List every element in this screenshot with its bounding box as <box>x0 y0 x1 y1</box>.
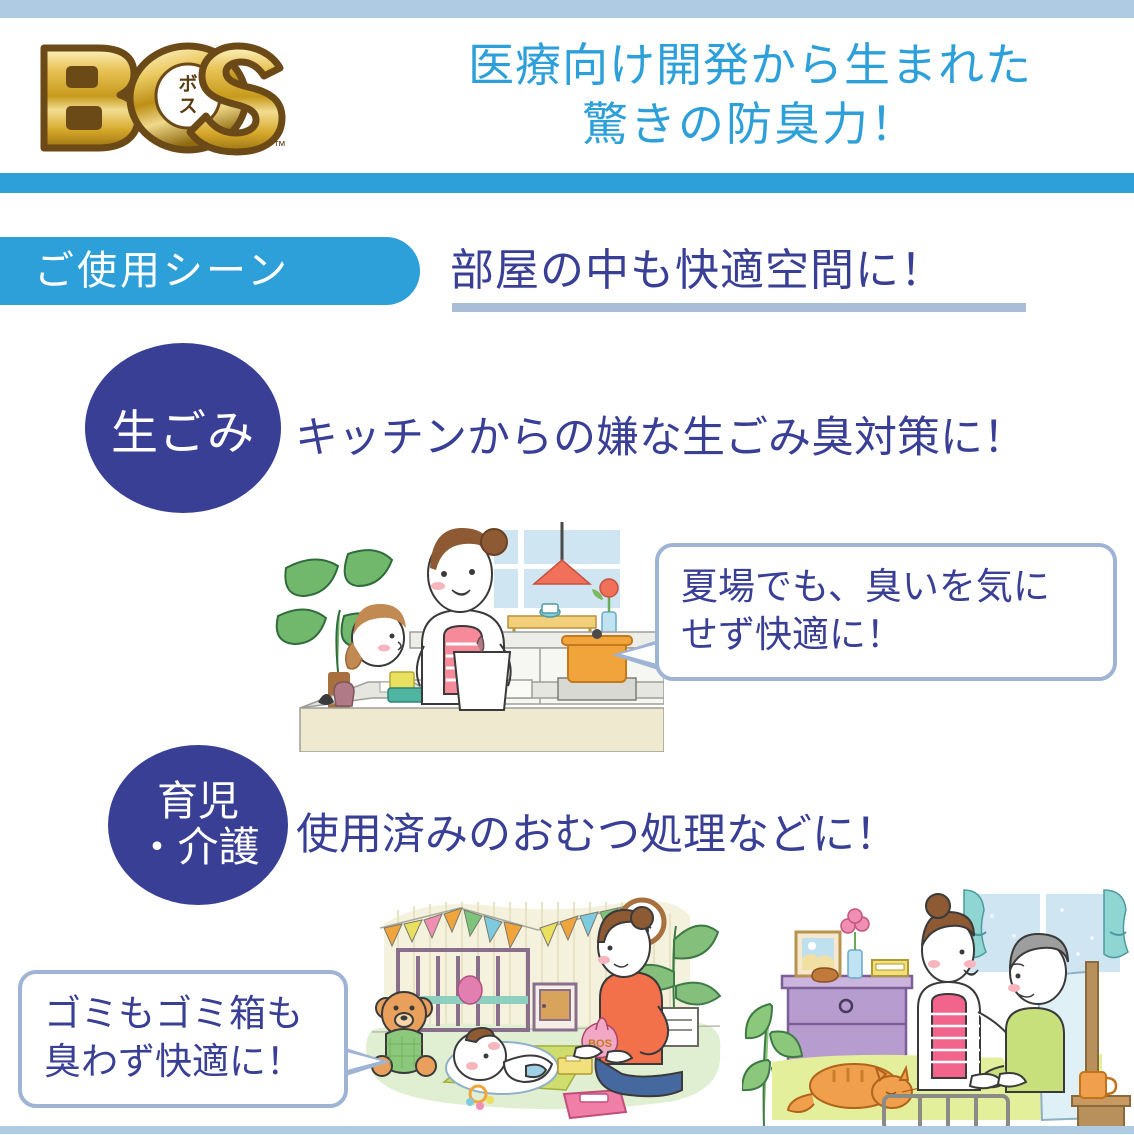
svg-text:ボ: ボ <box>178 73 197 95</box>
nursery-bubble-line-1: ゴミもゴミ箱も <box>44 990 324 1038</box>
caption-ikuji-kaigo: 使用済みのおむつ処理などに！ <box>296 800 898 862</box>
badge-ikuji-label-1: 育児 <box>157 779 239 825</box>
headline-line-2: 驚きの防臭力！ <box>400 95 1100 154</box>
svg-text:ス: ス <box>178 95 197 117</box>
nursery-scene-illustration: BOS <box>352 880 734 1130</box>
header-divider-bar <box>0 173 1134 193</box>
kitchen-scene-illustration <box>272 512 664 752</box>
page-title: 医療向け開発から生まれた 驚きの防臭力！ <box>400 36 1100 154</box>
badge-namagomi-label: 生ごみ <box>111 394 255 463</box>
bottom-accent-rail <box>0 1126 1134 1134</box>
caption-namagomi: キッチンからの嫌な生ごみ臭対策に！ <box>295 403 1026 465</box>
section-heading: 部屋の中も快適空間に！ <box>450 240 945 302</box>
bos-logo-icon: ボ ス ™ <box>28 32 296 160</box>
caregiving-scene-illustration <box>742 880 1132 1130</box>
top-accent-rail <box>0 0 1134 18</box>
promo-page: ボ ス ™ 医療向け開発から生まれた 驚きの防臭力！ ご使用シーン 部屋の中も快… <box>0 0 1134 1134</box>
usage-scene-tab: ご使用シーン <box>0 237 420 305</box>
bos-logo: ボ ス ™ <box>28 32 296 160</box>
speech-bubble-kitchen: 夏場でも、臭いを気に せず快適に！ <box>655 543 1117 681</box>
badge-ikuji-label-2: ・介護 <box>137 825 260 871</box>
badge-ikuji-kaigo: 育児 ・介護 <box>108 745 288 905</box>
speech-bubble-nursery: ゴミもゴミ箱も 臭わず快適に！ <box>18 970 348 1108</box>
kitchen-bubble-line-2: せず快適に！ <box>681 611 1093 659</box>
header: ボ ス ™ 医療向け開発から生まれた 驚きの防臭力！ <box>0 18 1134 173</box>
caregiving-illustration-icon <box>742 880 1132 1130</box>
headline-line-1: 医療向け開発から生まれた <box>400 36 1100 95</box>
nursery-bubble-tail-fill <box>343 1051 381 1071</box>
badge-namagomi: 生ごみ <box>85 343 281 513</box>
nursery-bubble-line-2: 臭わず快適に！ <box>44 1038 324 1086</box>
kitchen-bubble-line-1: 夏場でも、臭いを気に <box>681 563 1093 611</box>
nursery-illustration-icon: BOS <box>352 880 734 1130</box>
kitchen-illustration-icon <box>272 512 664 752</box>
trademark-mark: ™ <box>273 138 286 153</box>
section-heading-underline <box>452 303 1026 312</box>
